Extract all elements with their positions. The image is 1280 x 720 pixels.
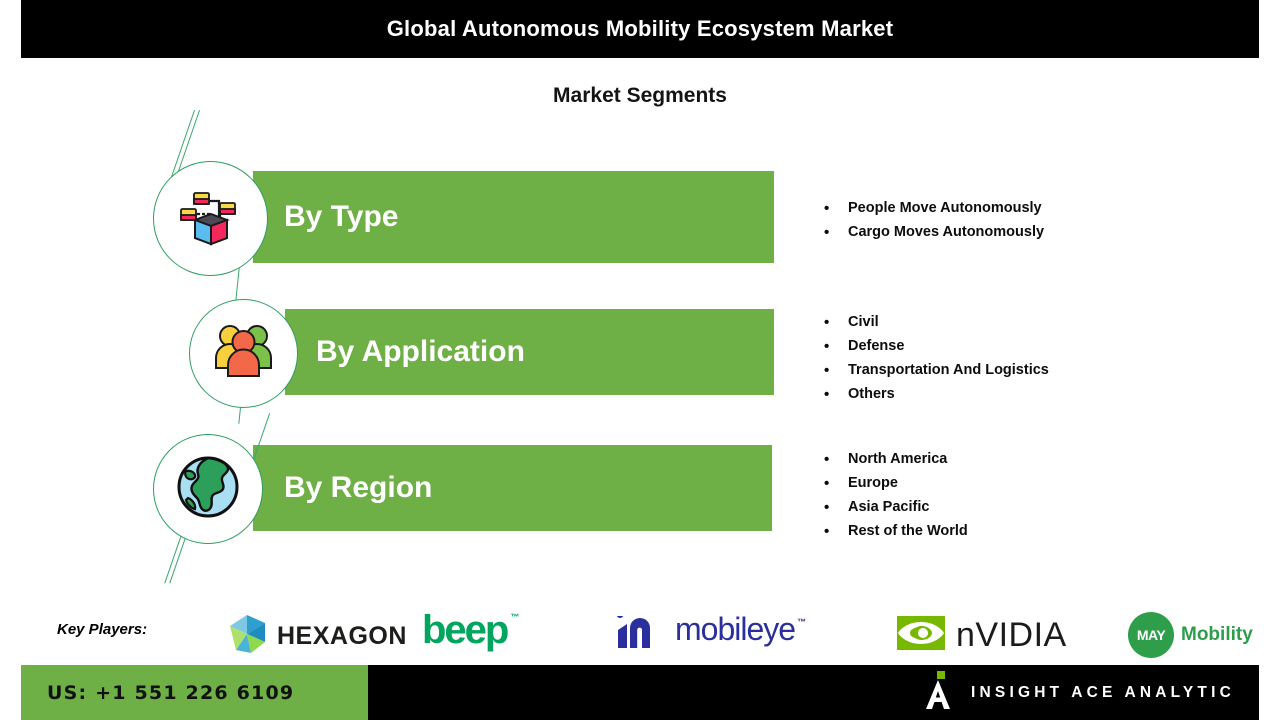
list-item-label: Civil — [848, 311, 879, 334]
list-item-label: Rest of the World — [848, 520, 968, 543]
list-item-label: People Move Autonomously — [848, 197, 1042, 220]
list-item-label: Asia Pacific — [848, 496, 929, 519]
segment-icon-circle-type[interactable] — [153, 161, 268, 276]
may-mobility-mark-text: MAY — [1137, 627, 1165, 643]
header-bar: Global Autonomous Mobility Ecosystem Mar… — [21, 0, 1259, 58]
mobileye-logo-text: mobileye — [675, 611, 795, 648]
slide-canvas: Global Autonomous Mobility Ecosystem Mar… — [0, 0, 1280, 720]
hexagon-logo-text: HEXAGON — [277, 622, 407, 651]
beep-logo-text: beep — [422, 608, 507, 653]
segment-icon-circle-region[interactable] — [153, 434, 263, 544]
bullet-dot-icon: • — [824, 520, 848, 544]
bullet-list-region: • North America • Europe • Asia Pacific … — [824, 448, 968, 544]
footer-phone-number: US: +1 551 226 6109 — [47, 682, 294, 704]
key-players-label: Key Players: — [57, 621, 147, 638]
hexagon-mark-icon — [227, 612, 277, 661]
mobileye-logo[interactable]: mobileye ™ — [616, 613, 806, 655]
bullet-dot-icon: • — [824, 496, 848, 520]
bullet-dot-icon: • — [824, 197, 848, 221]
list-item: • Rest of the World — [824, 520, 968, 544]
list-item: • Others — [824, 383, 1049, 407]
segment-icon-circle-application[interactable] — [189, 299, 298, 408]
bullet-dot-icon: • — [824, 335, 848, 359]
beep-trademark-icon: ™ — [510, 612, 519, 622]
cube-network-icon — [175, 180, 247, 257]
bullet-list-type: • People Move Autonomously • Cargo Moves… — [824, 197, 1044, 245]
insight-ace-logo-icon — [923, 669, 953, 716]
mobileye-mark-icon — [616, 613, 675, 655]
bullet-dot-icon: • — [824, 448, 848, 472]
beep-logo[interactable]: beep ™ — [422, 608, 519, 653]
list-item: • Asia Pacific — [824, 496, 968, 520]
list-item: • Defense — [824, 335, 1049, 359]
list-item: • Civil — [824, 311, 1049, 335]
segment-bar-region[interactable]: By Region — [253, 445, 772, 531]
list-item-label: Transportation And Logistics — [848, 359, 1049, 382]
segment-label-region: By Region — [284, 473, 432, 503]
bullet-dot-icon: • — [824, 472, 848, 496]
bullet-dot-icon: • — [824, 311, 848, 335]
section-subtitle: Market Segments — [0, 84, 1280, 108]
list-item-label: Defense — [848, 335, 904, 358]
footer-phone-bar: US: +1 551 226 6109 — [21, 665, 368, 720]
list-item: • People Move Autonomously — [824, 197, 1044, 221]
list-item: • North America — [824, 448, 968, 472]
may-mobility-logo-text: Mobility — [1181, 624, 1253, 646]
segment-label-application: By Application — [316, 337, 525, 367]
bullet-dot-icon: • — [824, 221, 848, 245]
bullet-list-application: • Civil • Defense • Transportation And L… — [824, 311, 1049, 407]
globe-icon — [174, 453, 242, 526]
may-mobility-mark-icon: MAY — [1128, 612, 1174, 658]
hexagon-logo[interactable]: HEXAGON — [227, 612, 407, 661]
segment-label-type: By Type — [284, 202, 398, 232]
list-item: • Cargo Moves Autonomously — [824, 221, 1044, 245]
page-title: Global Autonomous Mobility Ecosystem Mar… — [387, 16, 894, 42]
nvidia-logo[interactable]: nVIDIA — [893, 612, 1067, 659]
bullet-dot-icon: • — [824, 359, 848, 383]
footer-brand-bar: INSIGHT ACE ANALYTIC — [368, 665, 1259, 720]
list-item: • Europe — [824, 472, 968, 496]
nvidia-logo-text: nVIDIA — [956, 616, 1067, 655]
footer-brand-name: INSIGHT ACE ANALYTIC — [971, 684, 1235, 702]
segment-bar-type[interactable]: By Type — [253, 171, 774, 263]
list-item-label: Others — [848, 383, 895, 406]
nvidia-eye-icon — [893, 612, 956, 659]
people-group-icon — [209, 316, 279, 391]
bullet-dot-icon: • — [824, 383, 848, 407]
may-mobility-logo[interactable]: MAY Mobility — [1128, 612, 1253, 658]
segment-bar-application[interactable]: By Application — [285, 309, 774, 395]
list-item-label: Cargo Moves Autonomously — [848, 221, 1044, 244]
mobileye-trademark-icon: ™ — [797, 617, 806, 627]
list-item-label: North America — [848, 448, 947, 471]
list-item-label: Europe — [848, 472, 898, 495]
list-item: • Transportation And Logistics — [824, 359, 1049, 383]
